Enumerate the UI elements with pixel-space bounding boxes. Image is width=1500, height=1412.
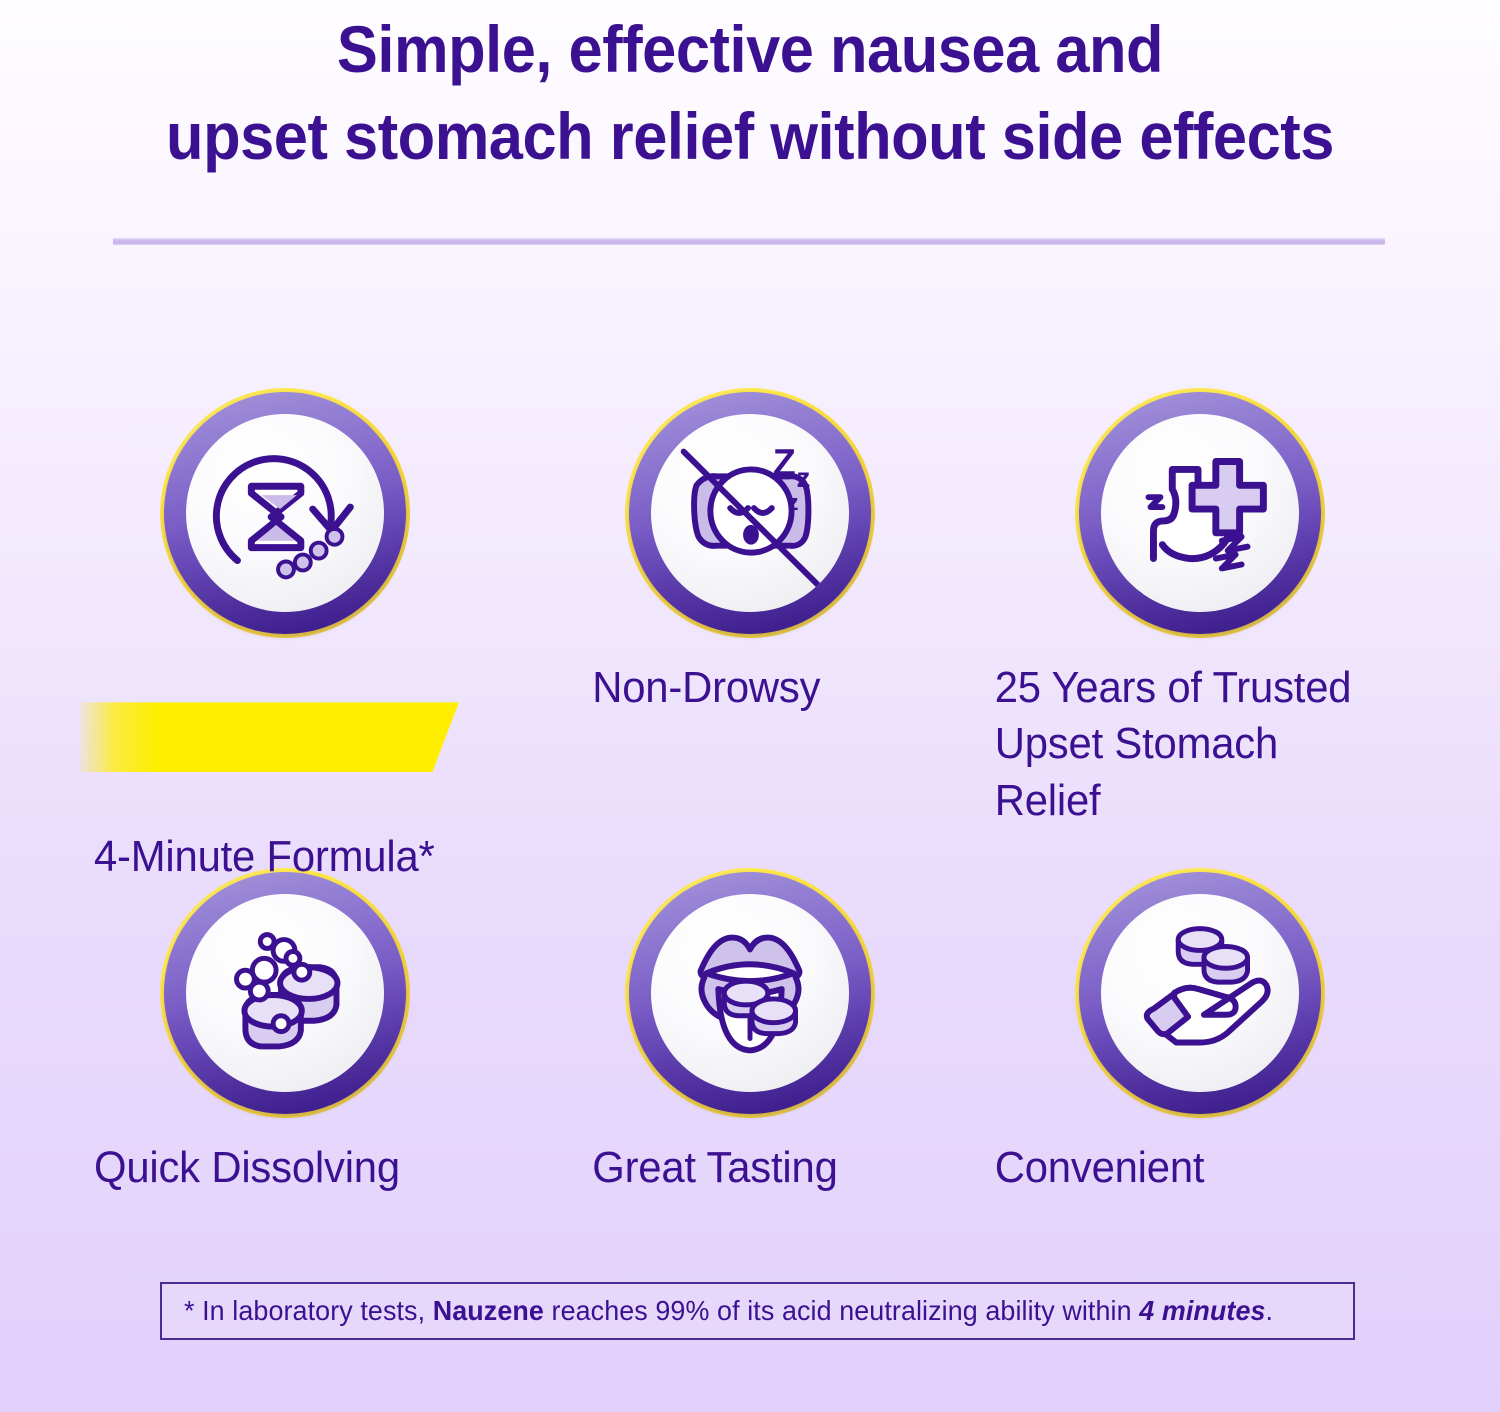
yellow-highlight: [81, 702, 459, 772]
benefit-label-trusted-relief: 25 Years of Trusted Upset Stomach Relief: [990, 660, 1389, 829]
benefit-label-non-drowsy: Non-Drowsy: [540, 660, 939, 716]
badge-purple-ring: [629, 872, 871, 1114]
page-headline: Simple, effective nausea and upset stoma…: [53, 6, 1448, 180]
badge-purple-ring: [1079, 872, 1321, 1114]
benefit-label-four-minute-formula: 4-Minute Formula*: [75, 660, 474, 942]
badge-gold-ring: [160, 388, 410, 638]
mouth-tongue-tablets-icon: [651, 894, 849, 1092]
badge-convenient: [1075, 868, 1325, 1118]
badge-trusted-relief: [1075, 388, 1325, 638]
badge-purple-ring: [164, 392, 406, 634]
badge-non-drowsy: Z z z: [625, 388, 875, 638]
badge-gold-ring: [625, 868, 875, 1118]
benefit-label-quick-dissolving: Quick Dissolving: [75, 1140, 474, 1196]
footnote-brand: Nauzene: [433, 1295, 544, 1326]
header-divider: [113, 238, 1385, 245]
benefit-great-tasting[interactable]: Great Tasting: [540, 868, 960, 1196]
badge-great-tasting: [625, 868, 875, 1118]
badge-gold-ring: [1075, 868, 1325, 1118]
footnote-middle: reaches 99% of its acid neutralizing abi…: [544, 1295, 1139, 1326]
hourglass-rotate-icon: [186, 414, 384, 612]
badge-face: [651, 894, 849, 1092]
benefits-grid: 4-Minute Formula*: [0, 388, 1500, 1348]
badge-face: [186, 414, 384, 612]
benefit-four-minute-formula[interactable]: 4-Minute Formula*: [75, 388, 495, 942]
benefit-convenient[interactable]: Convenient: [990, 868, 1410, 1196]
benefit-label-great-tasting: Great Tasting: [540, 1140, 939, 1196]
badge-face: [1101, 894, 1299, 1092]
benefit-non-drowsy[interactable]: Z z z Non-Drowsy: [540, 388, 960, 716]
footnote-suffix: .: [1266, 1295, 1274, 1326]
badge-face: [1101, 414, 1299, 612]
badge-purple-ring: [1079, 392, 1321, 634]
svg-text:Z: Z: [773, 441, 796, 483]
benefit-label-convenient: Convenient: [990, 1140, 1389, 1196]
benefit-trusted-relief[interactable]: 25 Years of Trusted Upset Stomach Relief: [990, 388, 1410, 829]
badge-purple-ring: Z z z: [629, 392, 871, 634]
stomach-plus-icon: [1101, 414, 1299, 612]
badge-gold-ring: Z z z: [625, 388, 875, 638]
footnote-prefix: * In laboratory tests,: [184, 1295, 433, 1326]
badge-four-minute-formula: [160, 388, 410, 638]
sleeping-face-pillow-crossed-out-icon: Z z z: [651, 414, 849, 612]
badge-face: Z z z: [651, 414, 849, 612]
svg-text:z: z: [797, 462, 811, 493]
footnote-text: * In laboratory tests, Nauzene reaches 9…: [184, 1297, 1273, 1325]
badge-gold-ring: [1075, 388, 1325, 638]
svg-text:z: z: [788, 490, 799, 515]
benefits-row-1: 4-Minute Formula*: [0, 388, 1500, 868]
footnote-emphasis: 4 minutes: [1139, 1295, 1265, 1326]
footnote-box: * In laboratory tests, Nauzene reaches 9…: [160, 1282, 1355, 1340]
hand-holding-tablets-icon: [1101, 894, 1299, 1092]
